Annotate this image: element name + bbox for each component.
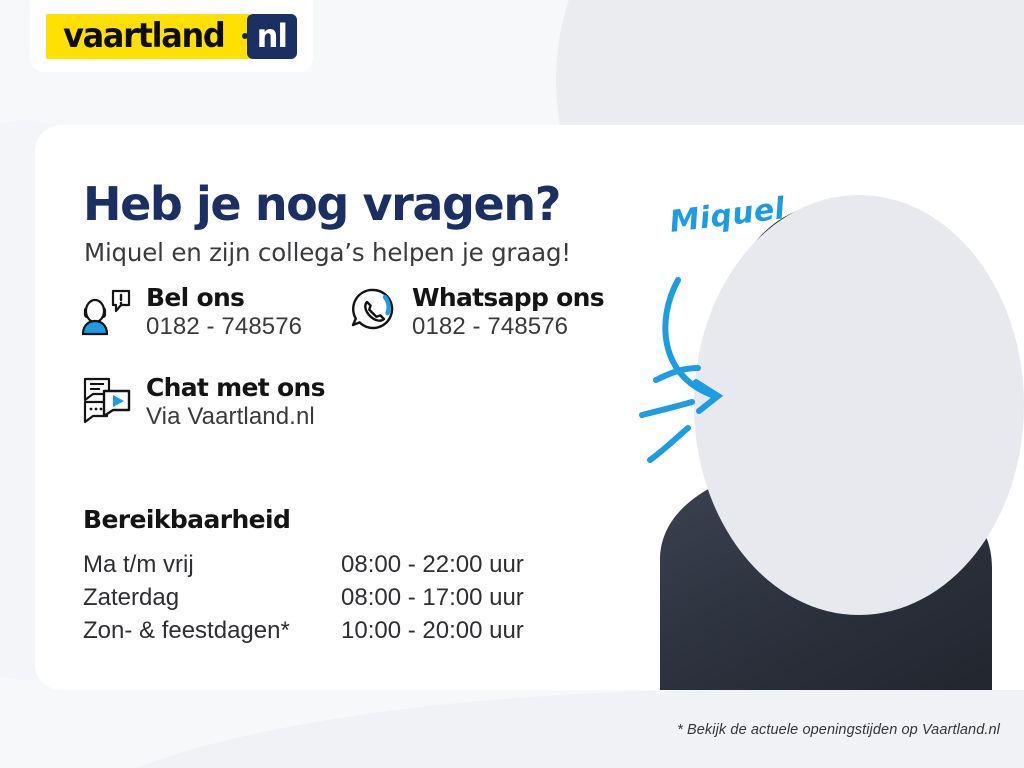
contact-title: Chat met ons [146, 375, 325, 401]
logo-word-text: vaartland [63, 19, 224, 53]
photo-backdrop-circle [694, 195, 1024, 615]
hours-time: 08:00 - 22:00 uur [341, 548, 524, 581]
hours-time: 10:00 - 20:00 uur [341, 614, 524, 647]
hours-table: Ma t/m vrij 08:00 - 22:00 uur Zaterdag 0… [83, 548, 524, 647]
contact-text: Chat met ons Via Vaartland.nl [146, 374, 325, 434]
contact-value[interactable]: 0182 - 748576 [412, 311, 604, 343]
page-subtitle: Miquel en zijn collega’s helpen je graag… [84, 238, 571, 268]
logo-lockup: vaartland nl [46, 14, 297, 59]
contact-value[interactable]: 0182 - 748576 [146, 311, 302, 343]
page-title: Heb je nog vragen? [83, 181, 560, 227]
logo-tld-badge: nl [247, 14, 297, 59]
contact-value[interactable]: Via Vaartland.nl [146, 401, 325, 433]
hours-day: Zaterdag [83, 581, 341, 614]
hours-day: Zon- & feestdagen* [83, 614, 341, 647]
chat-bubbles-icon [82, 374, 132, 428]
brand-logo[interactable]: vaartland nl [30, 0, 313, 72]
headset-agent-icon [82, 284, 132, 338]
hours-row: Ma t/m vrij 08:00 - 22:00 uur [83, 548, 524, 581]
hours-day: Ma t/m vrij [83, 548, 341, 581]
contact-title: Bel ons [146, 285, 302, 311]
footnote: * Bekijk de actuele openingstijden op Va… [677, 722, 1000, 738]
hours-row: Zaterdag 08:00 - 17:00 uur [83, 581, 524, 614]
logo-wordmark: vaartland [46, 14, 240, 59]
banner-stage: vaartland nl doe jezelf een plezier Miqu… [0, 0, 1024, 768]
hours-heading: Bereikbaarheid [83, 505, 290, 534]
logo-tld-text: nl [257, 20, 287, 52]
contact-title: Whatsapp ons [412, 285, 604, 311]
contact-whatsapp-ons[interactable]: Whatsapp ons 0182 - 748576 [348, 284, 604, 344]
whatsapp-icon [348, 284, 398, 338]
hours-time: 08:00 - 17:00 uur [341, 581, 524, 614]
agent-photo: vaartland nl doe jezelf een plezier [620, 90, 1024, 690]
contact-bel-ons[interactable]: Bel ons 0182 - 748576 [82, 284, 302, 344]
contact-text: Bel ons 0182 - 748576 [146, 284, 302, 344]
contact-text: Whatsapp ons 0182 - 748576 [412, 284, 604, 344]
hours-row: Zon- & feestdagen* 10:00 - 20:00 uur [83, 614, 524, 647]
contact-chat-met-ons[interactable]: Chat met ons Via Vaartland.nl [82, 374, 325, 434]
